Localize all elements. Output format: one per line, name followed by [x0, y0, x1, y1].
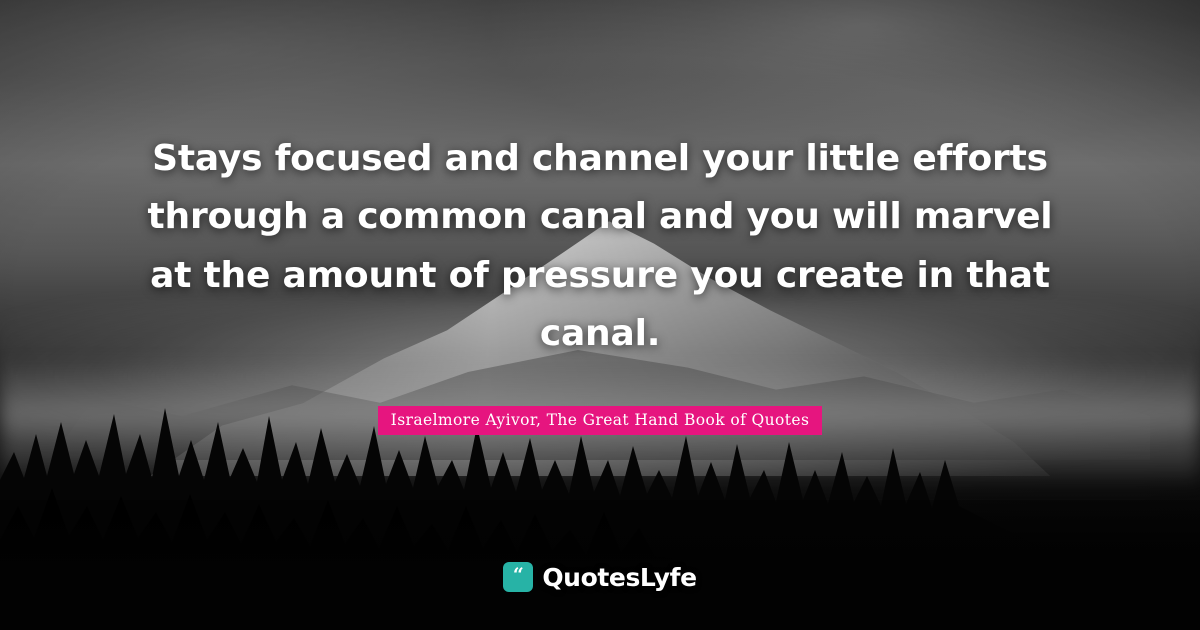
- quote-mark-icon: “: [503, 562, 533, 592]
- quote-block: Stays focused and channel your little ef…: [0, 130, 1200, 363]
- brand-name: QuotesLyfe: [542, 563, 696, 592]
- quote-text: Stays focused and channel your little ef…: [128, 130, 1072, 363]
- attribution-badge: Israelmore Ayivor, The Great Hand Book o…: [378, 406, 823, 435]
- brand-logo: “ QuotesLyfe: [0, 562, 1200, 592]
- quote-image-canvas: Stays focused and channel your little ef…: [0, 0, 1200, 630]
- attribution-row: Israelmore Ayivor, The Great Hand Book o…: [0, 406, 1200, 435]
